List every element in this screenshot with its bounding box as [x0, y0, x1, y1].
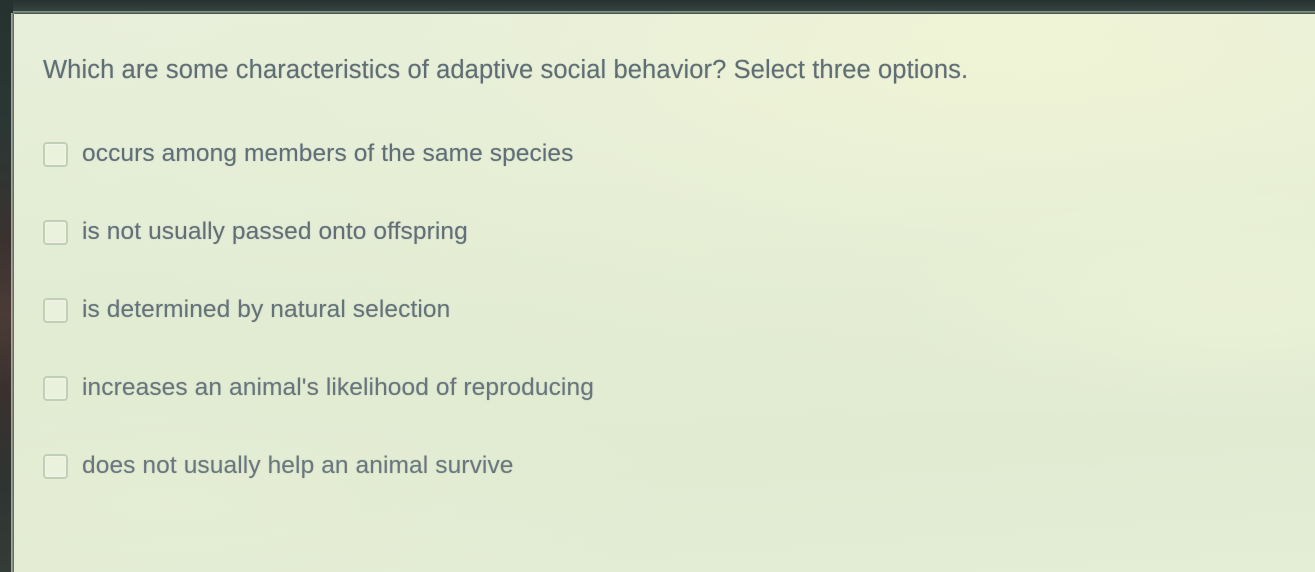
checkbox-icon-5[interactable] [43, 454, 68, 479]
answer-options-list: occurs among members of the same species… [43, 132, 1273, 488]
question-prompt: Which are some characteristics of adapti… [43, 54, 1273, 86]
option-row-1[interactable]: occurs among members of the same species [43, 132, 1273, 176]
checkbox-icon-4[interactable] [43, 376, 68, 401]
checkbox-icon-1[interactable] [43, 142, 68, 167]
option-label-3: is determined by natural selection [82, 295, 450, 325]
option-label-5: does not usually help an animal survive [82, 451, 514, 481]
option-row-4[interactable]: increases an animal's likelihood of repr… [43, 366, 1273, 410]
screen-surface: Which are some characteristics of adapti… [14, 14, 1315, 572]
option-label-4: increases an animal's likelihood of repr… [82, 373, 594, 403]
option-row-2[interactable]: is not usually passed onto offspring [43, 210, 1273, 254]
photographed-screen-frame: Which are some characteristics of adapti… [0, 0, 1315, 572]
checkbox-icon-2[interactable] [43, 220, 68, 245]
checkbox-icon-3[interactable] [43, 298, 68, 323]
option-row-5[interactable]: does not usually help an animal survive [43, 444, 1273, 488]
option-row-3[interactable]: is determined by natural selection [43, 288, 1273, 332]
option-label-1: occurs among members of the same species [82, 139, 574, 169]
option-label-2: is not usually passed onto offspring [82, 217, 468, 247]
